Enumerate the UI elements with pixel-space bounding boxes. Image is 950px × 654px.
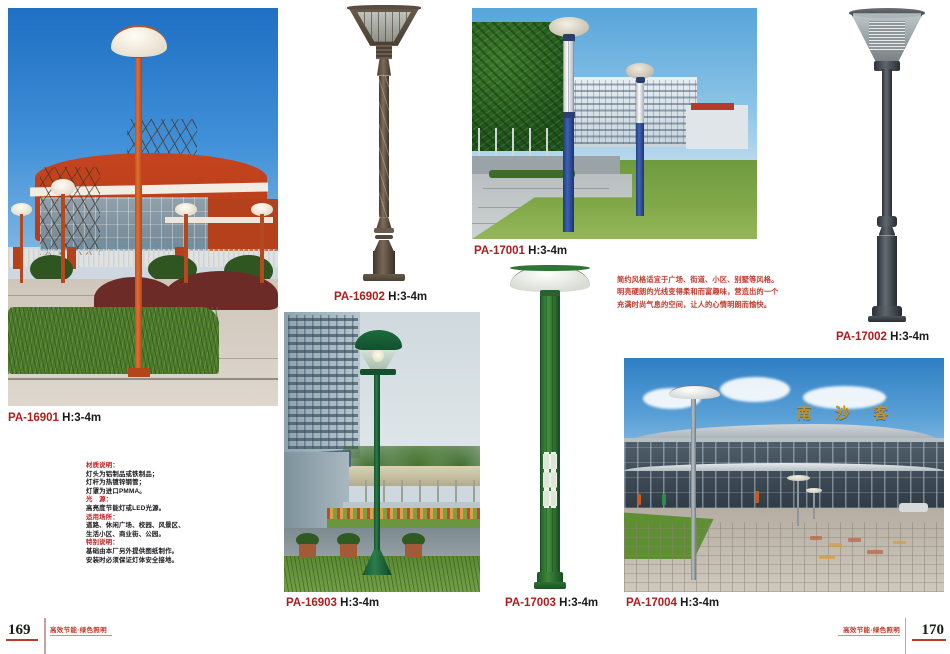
base-plinth: [872, 306, 902, 316]
base-plate: [868, 316, 906, 322]
background-lamp-disc: [806, 488, 822, 493]
base-ring: [375, 235, 393, 239]
paving-pattern: [848, 538, 861, 542]
product-height: H:3-4m: [890, 331, 929, 343]
caption-pa-16903: PA-16903 H:3-4m: [286, 597, 379, 609]
bollard: [662, 494, 666, 506]
page-number-left: 169: [8, 622, 31, 639]
product-photo-pa-16901: [8, 8, 278, 406]
pole-taper: [879, 226, 896, 236]
product-code: PA-16903: [286, 597, 337, 609]
cone-edge: [851, 13, 923, 61]
paving-pattern: [829, 543, 842, 547]
walkway-joint: [483, 188, 608, 189]
product-height: H:3-4m: [340, 597, 379, 609]
spec-line: 灯头为铝制品或铁制品；: [86, 471, 226, 480]
building-signage: 南 沙 客: [797, 402, 897, 423]
lamp-post: [636, 123, 644, 216]
product-image-pa-17003: [497, 258, 603, 592]
background-lamp: [11, 203, 33, 283]
footer-tagline-right: 高效节能·绿色照明: [843, 624, 900, 634]
bollard: [755, 491, 759, 503]
lamp-pole: [882, 69, 893, 216]
blurb-line: 充满时尚气息的空间，让人的心情明朗而愉快。: [617, 299, 809, 311]
background-lamp: [251, 203, 273, 283]
plant-pot: [405, 544, 423, 558]
lamp-disc-shade: [669, 385, 720, 399]
secondary-building-roof: [691, 103, 734, 110]
footer-tagline-left: 高效节能·绿色照明: [50, 624, 107, 634]
background-lamp: [175, 203, 197, 283]
product-height: H:3-4m: [62, 412, 101, 424]
product-code: PA-17004: [626, 597, 677, 609]
lamp-rim: [360, 369, 395, 375]
bollard: [637, 494, 641, 506]
caption-pa-17001: PA-17001 H:3-4m: [474, 245, 567, 257]
spec-heading-application: 适用场所：: [86, 514, 226, 523]
product-photo-pa-17001: [472, 8, 757, 239]
catalog-page: PA-16901 H:3-4m PA-16902 H:3-4m: [0, 0, 950, 654]
lamp-neck: [376, 44, 392, 58]
spec-heading-notice: 特别说明：: [86, 539, 226, 548]
paving-pattern: [867, 550, 883, 554]
caption-pa-17003: PA-17003 H:3-4m: [505, 597, 598, 609]
caption-pa-16902: PA-16902 H:3-4m: [334, 291, 427, 303]
spec-line: 基础由本厂另外提供图纸制作。: [86, 548, 226, 557]
lamp-luminaire: [636, 83, 644, 123]
background-lamp-disc: [787, 475, 809, 481]
page-number-underline: [6, 639, 38, 641]
secondary-building: [686, 105, 749, 149]
background-lamp-post: [626, 63, 655, 215]
base-column: [877, 236, 896, 306]
footer-right: 高效节能·绿色照明 170: [720, 612, 950, 654]
footer-tagline-underline: [50, 635, 112, 636]
footer-tagline-underline: [838, 635, 900, 636]
column-ribs: [540, 296, 559, 580]
footer-divider: [44, 618, 46, 654]
product-code: PA-16901: [8, 412, 59, 424]
footer-divider: [905, 618, 907, 654]
marketing-description: 简约风格适宜于广场、街道、小区、别墅等风格。 明亮硬朗的光线变得柔和而富趣味，营…: [617, 274, 809, 311]
product-height: H:3-4m: [680, 597, 719, 609]
plant-pot: [299, 544, 317, 558]
facade-mullions: [624, 442, 944, 508]
pole-flare: [376, 217, 391, 228]
background-lamp-pole: [797, 480, 799, 527]
lamp-post: [563, 118, 574, 232]
page-number-underline: [912, 639, 946, 641]
lamp-pole: [691, 393, 696, 580]
plant-pot: [340, 544, 358, 558]
caption-pa-17002: PA-17002 H:3-4m: [836, 331, 929, 343]
product-image-pa-17002: [834, 2, 940, 322]
product-height: H:3-4m: [388, 291, 427, 303]
background-lamp-pole: [813, 491, 815, 519]
spec-line: 道路、休闲广场、校园、风景区、: [86, 522, 226, 531]
pole-taper: [377, 59, 391, 76]
foreground-lamp-post: [549, 17, 589, 232]
lamp-luminaire-ribs: [563, 41, 574, 112]
spec-line: 灯杆为热镀锌钢管；: [86, 479, 226, 488]
caption-pa-16901: PA-16901 H:3-4m: [8, 412, 101, 424]
paving-pattern: [819, 555, 835, 559]
pole-ring: [877, 216, 896, 226]
parked-car: [899, 503, 928, 512]
specification-block: 材质说明： 灯头为铝制品或铁制品； 灯杆为热镀锌钢管； 灯罩为进口PMMA。 光…: [86, 462, 226, 565]
page-number-right: 170: [922, 622, 945, 639]
base-bell: [374, 240, 393, 251]
base-plate: [363, 274, 404, 281]
product-code: PA-16902: [334, 291, 385, 303]
product-image-pa-16902: [330, 2, 438, 285]
base-ring: [374, 228, 395, 233]
blurb-line: 简约风格适宜于广场、街道、小区、别墅等风格。: [617, 274, 809, 286]
tower-windows: [288, 315, 359, 449]
product-code: PA-17003: [505, 597, 556, 609]
product-code: PA-17001: [474, 245, 525, 257]
blurb-line: 明亮硬朗的光线变得柔和而富趣味，营造出的一个: [617, 286, 809, 298]
spec-heading-lightsource: 光 源：: [86, 496, 226, 505]
lamp-base: [128, 368, 150, 377]
product-height: H:3-4m: [528, 245, 567, 257]
base-plate: [534, 582, 566, 589]
footer-left: 169 高效节能·绿色照明: [0, 612, 230, 654]
caption-pa-17004: PA-17004 H:3-4m: [626, 597, 719, 609]
spec-line: 高亮度节能灯或LED光源。: [86, 505, 226, 514]
base-column: [373, 251, 395, 274]
hedge-texture: [8, 307, 219, 375]
lamp-pole: [374, 374, 380, 564]
pole-twist-texture: [379, 76, 389, 218]
background-lamp: [51, 179, 75, 282]
product-photo-pa-16903: [284, 312, 480, 592]
decorative-window-panel: [543, 452, 557, 509]
spec-heading-material: 材质说明：: [86, 462, 226, 471]
product-code: PA-17002: [836, 331, 887, 343]
spec-line: 安装时必须保证灯体安全接地。: [86, 557, 226, 566]
pavement-joint: [8, 378, 278, 380]
paving-pattern: [893, 541, 906, 545]
lamp-pole: [135, 46, 142, 376]
entrance-canopy: [624, 463, 944, 471]
product-photo-pa-17004: 南 沙 客: [624, 358, 944, 592]
paving-pattern: [810, 536, 823, 540]
product-height: H:3-4m: [559, 597, 598, 609]
paving-grid: [624, 522, 944, 592]
